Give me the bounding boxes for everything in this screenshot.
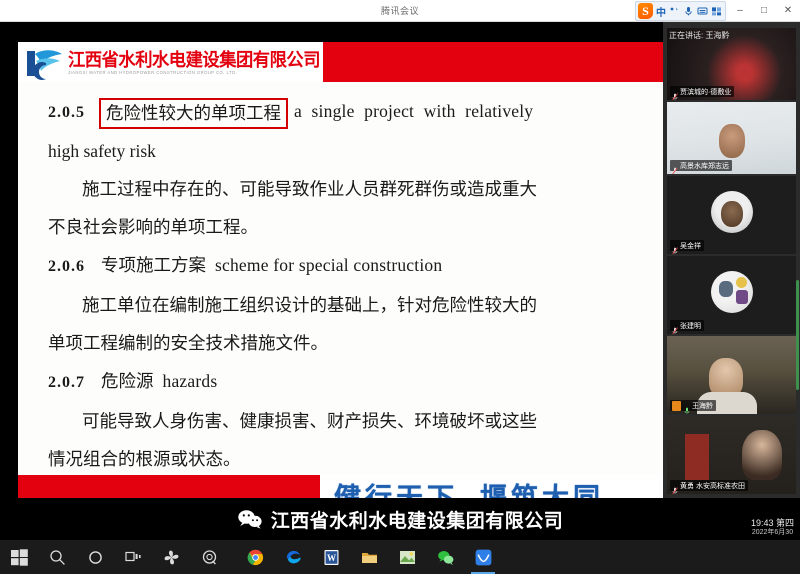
participant-name: 张建明 xyxy=(680,321,701,331)
participant-nameplate: 黄勇 水安高标准农田 xyxy=(670,480,748,491)
participant-tile[interactable]: 黄勇 水安高标准农田 xyxy=(667,416,796,494)
term-en: hazards xyxy=(163,371,218,391)
chrome-button[interactable] xyxy=(236,540,274,574)
meeting-window: 江西省水利水电建设集团有限公司 JIANGXI WATER AND HYDROP… xyxy=(0,22,800,540)
edge-button[interactable] xyxy=(274,540,312,574)
magnifier-button[interactable] xyxy=(190,540,228,574)
participant-tile[interactable]: 高景水库郑志远 xyxy=(667,102,796,174)
task-view-button[interactable] xyxy=(114,540,152,574)
search-icon xyxy=(49,549,66,566)
microphone-muted-icon xyxy=(672,322,678,330)
microphone-muted-icon xyxy=(672,162,678,170)
magnifier-icon xyxy=(201,549,218,566)
microphone-icon xyxy=(684,402,690,410)
keyboard-icon[interactable] xyxy=(697,5,708,17)
wechat-watermark-bar: 江西省水利水电建设集团有限公司 xyxy=(0,498,800,540)
presentation-slide: 江西省水利水电建设集团有限公司 JIANGXI WATER AND HYDROP… xyxy=(18,42,663,519)
edge-icon xyxy=(285,549,302,566)
rail-scrollbar-thumb[interactable] xyxy=(796,280,799,390)
sogou-logo-icon[interactable]: S xyxy=(638,3,653,19)
wechat-icon xyxy=(237,508,263,530)
maximize-button[interactable]: □ xyxy=(752,0,776,22)
definition-line: 不良社会影响的单项工程。 xyxy=(48,208,641,246)
search-button[interactable] xyxy=(38,540,76,574)
participant-name: 高景水库郑志远 xyxy=(680,161,729,171)
participant-nameplate: 张建明 xyxy=(670,320,704,331)
microphone-muted-icon xyxy=(672,242,678,250)
app-cluster-button[interactable] xyxy=(152,540,190,574)
word-icon: W xyxy=(323,549,340,566)
explorer-button[interactable] xyxy=(350,540,388,574)
participant-nameplate: 吴金祥 xyxy=(670,240,704,251)
company-logo-mark xyxy=(24,46,64,80)
clause-number: 2.0.6 xyxy=(48,258,85,275)
microphone-muted-icon xyxy=(672,482,678,490)
folder-icon xyxy=(361,549,378,566)
participant-name: 贾滨城的·德敷业 xyxy=(680,87,731,97)
active-speaker-label: 正在讲话: 王海黔 xyxy=(669,30,729,41)
pinwheel-icon xyxy=(163,549,180,566)
minimize-button[interactable]: – xyxy=(728,0,752,22)
clause-number: 2.0.7 xyxy=(48,374,85,391)
svg-text:W: W xyxy=(327,553,336,563)
participant-name: 吴金祥 xyxy=(680,241,701,251)
participant-name: 黄勇 水安高标准农田 xyxy=(680,481,745,491)
term-entry-line: 2.0.7危险源hazards xyxy=(48,362,641,402)
participant-avatar xyxy=(711,271,753,313)
photos-button[interactable] xyxy=(388,540,426,574)
term-en-continuation: high safety risk xyxy=(48,132,641,170)
term-cn-boxed: 危险性较大的单项工程 xyxy=(99,98,288,129)
participant-tile-active[interactable]: 王海黔 xyxy=(667,336,796,414)
share-gutter xyxy=(0,22,18,518)
term-entry-line: 2.0.6专项施工方案scheme for special constructi… xyxy=(48,246,641,286)
meeting-button[interactable] xyxy=(464,540,502,574)
participant-avatar xyxy=(711,191,753,233)
wechat-button[interactable] xyxy=(426,540,464,574)
participant-face xyxy=(742,430,782,480)
sogou-ime-toolbar[interactable]: S 中 xyxy=(635,1,726,21)
cortana-button[interactable] xyxy=(76,540,114,574)
chrome-icon xyxy=(247,549,264,566)
participant-nameplate: 贾滨城的·德敷业 xyxy=(670,86,734,97)
participant-face xyxy=(719,124,745,158)
task-view-icon xyxy=(125,549,142,566)
photos-icon xyxy=(399,549,416,566)
term-cn: 危险源 xyxy=(101,371,154,391)
windows-icon xyxy=(11,549,28,566)
tencent-meeting-icon xyxy=(475,549,492,566)
definition-line: 施工单位在编制施工组织设计的基础上，针对危险性较大的 xyxy=(48,286,641,324)
circle-icon xyxy=(87,549,104,566)
host-badge-icon xyxy=(672,401,681,411)
clock-time: 19:43 第四 xyxy=(751,518,794,529)
microphone-muted-icon xyxy=(672,88,678,96)
participant-name: 王海黔 xyxy=(692,401,713,411)
clock-date: 2022年6月30 xyxy=(751,529,794,538)
watermark-text: 江西省水利水电建设集团有限公司 xyxy=(271,506,564,533)
participant-tile[interactable]: 吴金祥 xyxy=(667,176,796,254)
term-en: a single project with relatively xyxy=(294,101,533,121)
company-name-en: JIANGXI WATER AND HYDROPOWER CONSTRUCTIO… xyxy=(68,71,331,75)
start-button[interactable] xyxy=(0,540,38,574)
participant-nameplate: 高景水库郑志远 xyxy=(670,160,732,171)
term-cn: 专项施工方案 xyxy=(101,255,206,275)
shared-screen-region: 江西省水利水电建设集团有限公司 JIANGXI WATER AND HYDROP… xyxy=(0,22,663,540)
slide-body: 2.0.5危险性较大的单项工程a single project with rel… xyxy=(18,86,663,476)
definition-line: 单项工程编制的安全技术措施文件。 xyxy=(48,324,641,362)
participant-video-rail[interactable]: 正在讲话: 王海黔 贾滨城的·德敷业 高景水库郑志远 xyxy=(663,22,800,540)
definition-line: 情况组合的根源或状态。 xyxy=(48,440,641,478)
punctuation-icon[interactable] xyxy=(669,5,680,17)
word-button[interactable]: W xyxy=(312,540,350,574)
definition-line: 施工过程中存在的、可能导致作业人员群死群伤或造成重大 xyxy=(48,170,641,208)
voice-input-icon[interactable] xyxy=(683,5,694,17)
definition-line: 可能导致人身伤害、健康损害、财产损失、环境破坏或这些 xyxy=(48,402,641,440)
company-logo-text: 江西省水利水电建设集团有限公司 JIANGXI WATER AND HYDROP… xyxy=(68,51,331,75)
window-controls: – □ ✕ xyxy=(728,0,800,22)
term-entry-line: 2.0.5危险性较大的单项工程a single project with rel… xyxy=(48,92,641,132)
chinese-mode-icon[interactable]: 中 xyxy=(656,4,666,19)
term-en: scheme for special construction xyxy=(215,255,442,275)
windows-taskbar[interactable]: W xyxy=(0,540,800,574)
toolbox-icon[interactable] xyxy=(711,5,722,17)
close-button[interactable]: ✕ xyxy=(776,0,800,22)
clause-number: 2.0.5 xyxy=(48,104,85,121)
background-door xyxy=(685,434,709,480)
company-name-cn: 江西省水利水电建设集团有限公司 xyxy=(68,51,320,69)
participant-tile[interactable]: 张建明 xyxy=(667,256,796,334)
wechat-icon xyxy=(437,549,454,566)
system-clock[interactable]: 19:43 第四 2022年6月30 xyxy=(751,518,794,538)
window-title-bar: 腾讯会议 S 中 – □ ✕ xyxy=(0,0,800,22)
participant-nameplate: 王海黔 xyxy=(670,400,716,411)
company-logo: 江西省水利水电建设集团有限公司 JIANGXI WATER AND HYDROP… xyxy=(24,44,324,82)
